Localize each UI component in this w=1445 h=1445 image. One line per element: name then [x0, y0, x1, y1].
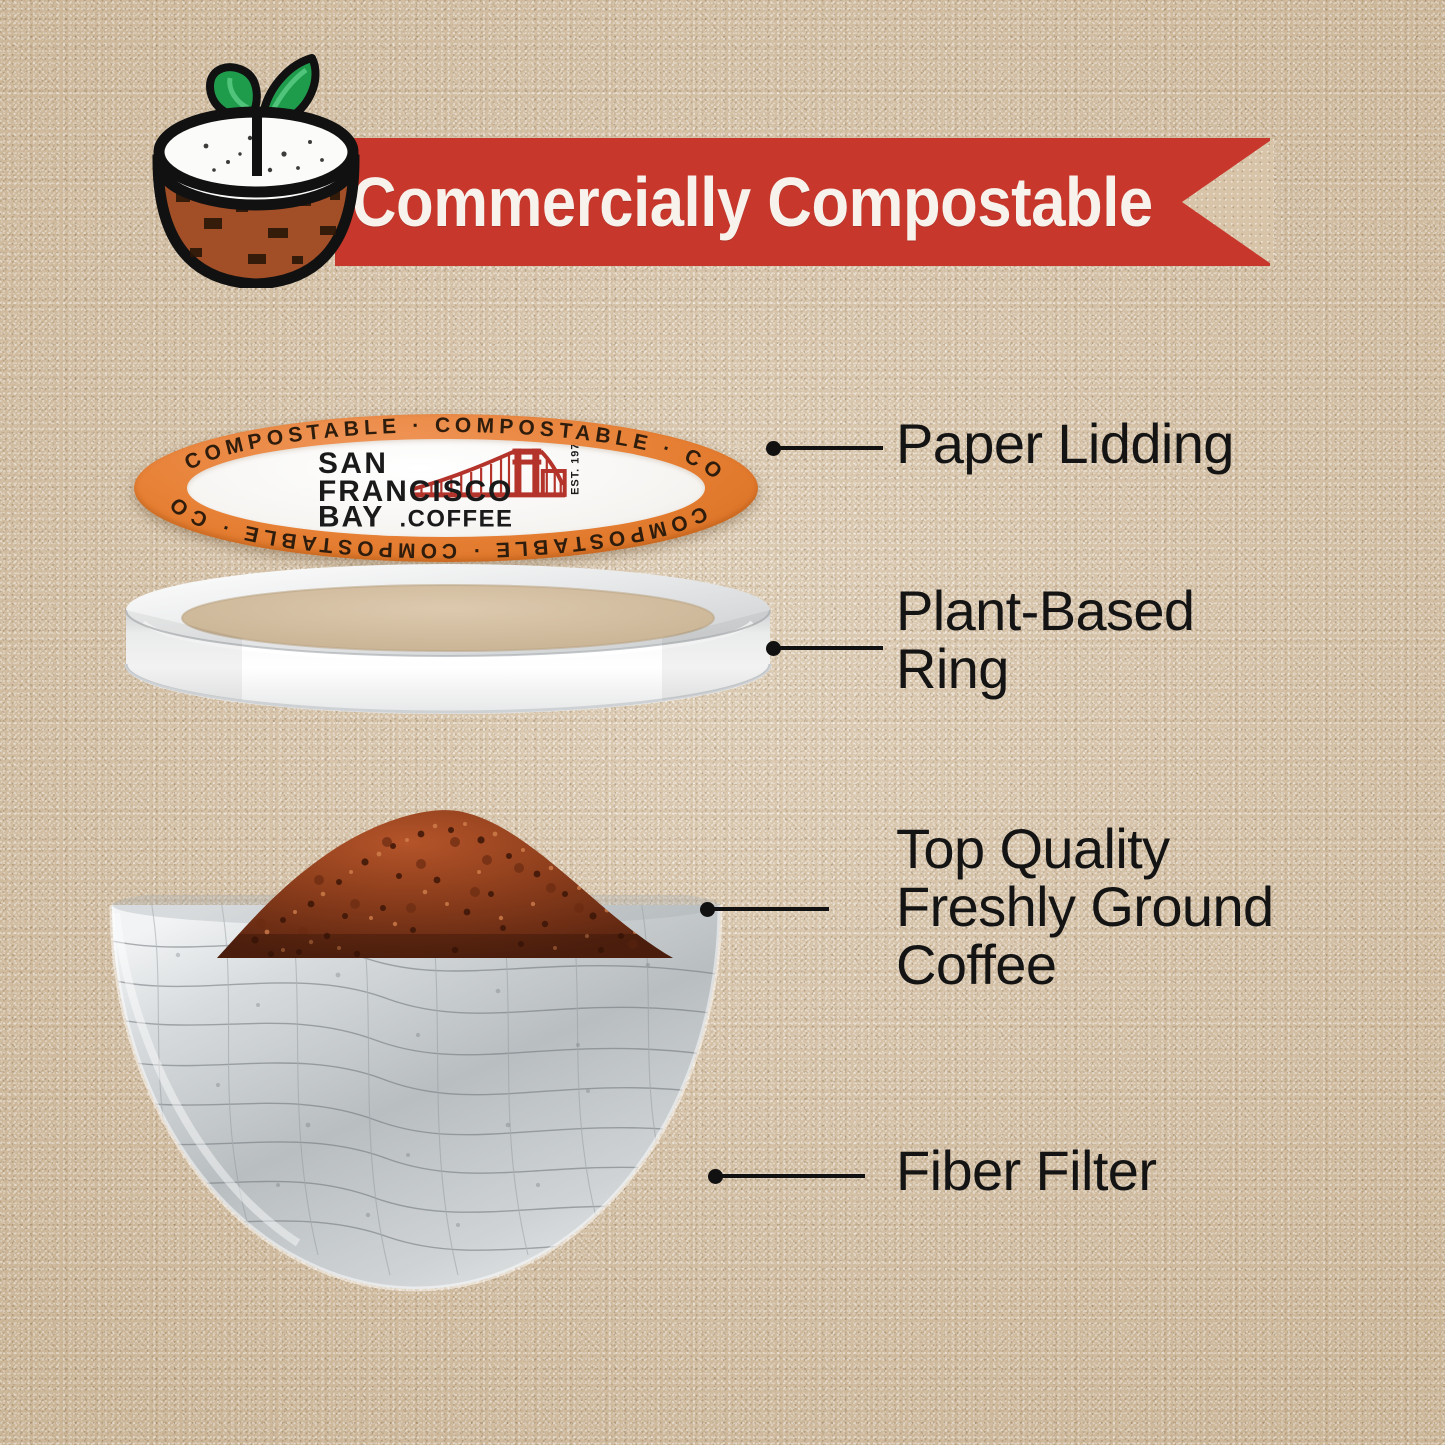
banner-title: Commercially Compostable — [352, 140, 1109, 264]
leader-line-paper-lidding — [766, 440, 886, 456]
infographic-canvas: Commercially Compostable — [0, 0, 1445, 1445]
callout-label-paper-lidding: Paper Lidding — [896, 415, 1234, 473]
coconut-pot-sprout-icon — [152, 42, 360, 288]
lid-orange-rim: COMPOSTABLE · COMPOSTABLE · COMPO COMPOS… — [134, 414, 758, 562]
callout-label-plant-based-ring: Plant-Based Ring — [896, 582, 1194, 698]
callout-label-fiber-filter: Fiber Filter — [896, 1142, 1156, 1200]
leader-line-plant-based-ring — [766, 640, 886, 656]
plant-based-ring — [122, 560, 774, 718]
leader-stroke — [717, 1174, 865, 1178]
leader-stroke — [775, 446, 883, 450]
callout-label-top-quality-coffee: Top Quality Freshly Ground Coffee — [896, 820, 1274, 995]
logo-line-bay: BAY — [318, 501, 384, 531]
leader-line-top-quality-coffee — [700, 901, 832, 917]
logo-suffix-coffee: .COFFEE — [400, 506, 514, 531]
leader-stroke — [775, 646, 883, 650]
coffee-grounds — [215, 808, 675, 960]
logo-est-text: EST. 1979 — [570, 445, 582, 495]
paper-lidding: COMPOSTABLE · COMPOSTABLE · COMPO COMPOS… — [134, 414, 758, 562]
leader-stroke — [709, 907, 829, 911]
san-francisco-bay-coffee-logo: EST. 1979 SAN FRANCISCO BAY .COFFEE — [318, 445, 593, 531]
leader-line-fiber-filter — [708, 1168, 868, 1184]
